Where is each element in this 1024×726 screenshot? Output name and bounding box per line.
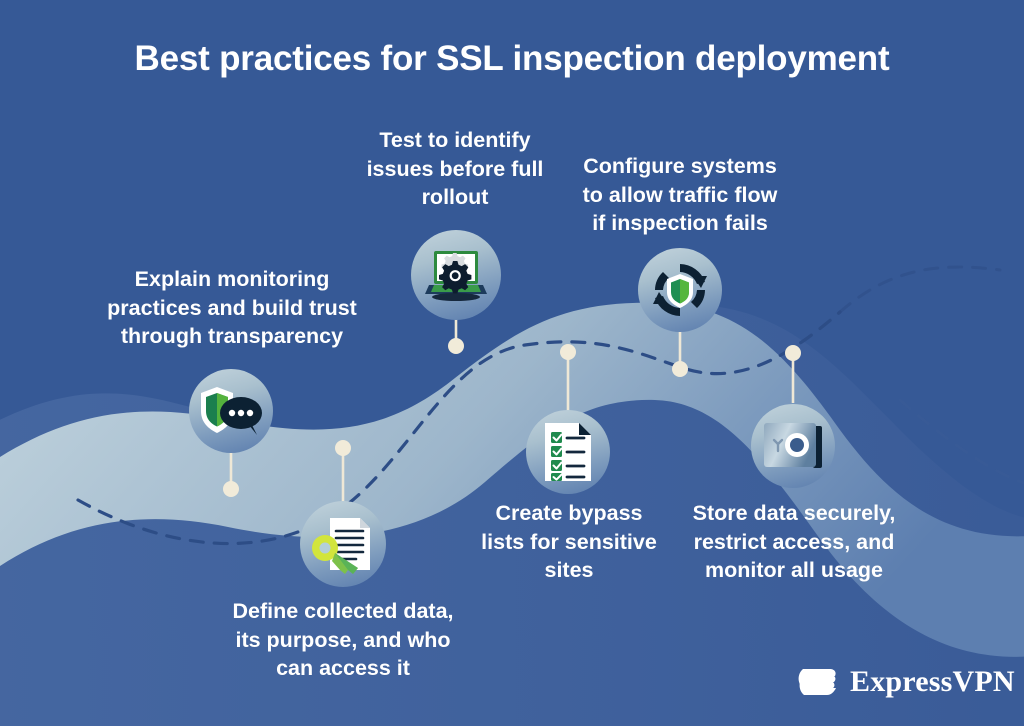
node-icon-fail-open[interactable] xyxy=(638,248,722,332)
path-dot-data xyxy=(335,440,351,456)
path-dot-testing xyxy=(448,338,464,354)
path-dot-failopen xyxy=(672,361,688,377)
checklist-icon xyxy=(543,421,593,483)
node-icon-bypass-lists[interactable] xyxy=(526,410,610,494)
label-fail-open: Configure systems to allow traffic flow … xyxy=(560,152,800,238)
laptop-gears-icon xyxy=(425,247,487,303)
sync-shield-icon xyxy=(649,260,711,320)
path-dot-storage xyxy=(785,345,801,361)
brand-name: ExpressVPN xyxy=(850,665,1015,699)
infographic-canvas: Best practices for SSL inspection deploy… xyxy=(0,0,1024,726)
node-icon-data-definition[interactable] xyxy=(300,501,386,587)
path-dot-bypass xyxy=(560,344,576,360)
dashed-path-tail xyxy=(840,267,1000,312)
label-bypass-lists: Create bypass lists for sensitive sites xyxy=(463,499,675,585)
page-title: Best practices for SSL inspection deploy… xyxy=(0,38,1024,80)
label-testing: Test to identify issues before full roll… xyxy=(345,126,565,212)
background-wave-graphic xyxy=(0,0,1024,726)
shield-chat-icon xyxy=(199,383,263,439)
path-dot-transparency xyxy=(223,481,239,497)
node-icon-secure-storage[interactable] xyxy=(751,404,835,488)
label-transparency: Explain monitoring practices and build t… xyxy=(88,265,376,351)
expressvpn-logo[interactable]: ExpressVPN xyxy=(795,662,1015,702)
safe-vault-icon xyxy=(761,420,825,472)
label-data-definition: Define collected data, its purpose, and … xyxy=(198,597,488,683)
node-icon-transparency[interactable] xyxy=(189,369,273,453)
document-key-icon xyxy=(310,512,376,576)
node-icon-testing[interactable] xyxy=(411,230,501,320)
expressvpn-logo-icon xyxy=(795,662,839,702)
label-secure-storage: Store data securely, restrict access, an… xyxy=(668,499,920,585)
